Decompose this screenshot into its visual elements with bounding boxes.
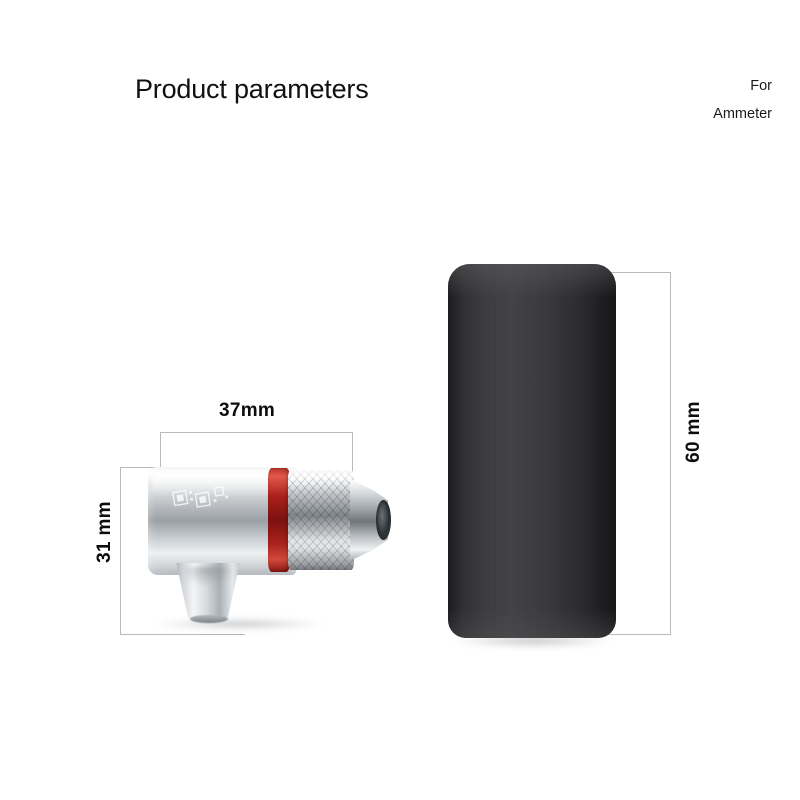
dimension-line-31-left [120, 467, 121, 635]
corner-note-line-2: Ammeter [572, 100, 772, 128]
inflator-head-neck-shading [180, 567, 236, 587]
red-anodized-ring [268, 468, 290, 572]
insulated-sleeve-bottom-edge [448, 608, 616, 638]
dimension-label-31mm: 31 mm [94, 494, 116, 570]
product-parameters-canvas: Product parameters For Ammeter 37mm 31 m… [0, 0, 800, 800]
page-title: Product parameters [135, 74, 369, 105]
knurled-grip-gloss [288, 470, 354, 570]
corner-note: For Ammeter [572, 72, 772, 128]
insulated-sleeve-top-edge [448, 264, 616, 298]
dimension-label-37mm: 37mm [219, 400, 275, 422]
inflator-head-shadow [154, 618, 324, 630]
inflator-head-neck-base [190, 615, 228, 623]
inflator-nozzle-opening [376, 500, 391, 540]
insulated-sleeve-texture [448, 264, 616, 638]
dimension-line-60-right [670, 272, 671, 635]
dimension-line-37-top [160, 432, 352, 433]
product-image-inflator-head [128, 455, 398, 645]
corner-note-line-1: For [572, 72, 772, 100]
product-image-insulated-sleeve [446, 264, 622, 650]
dimension-label-60mm: 60 mm [683, 394, 705, 470]
